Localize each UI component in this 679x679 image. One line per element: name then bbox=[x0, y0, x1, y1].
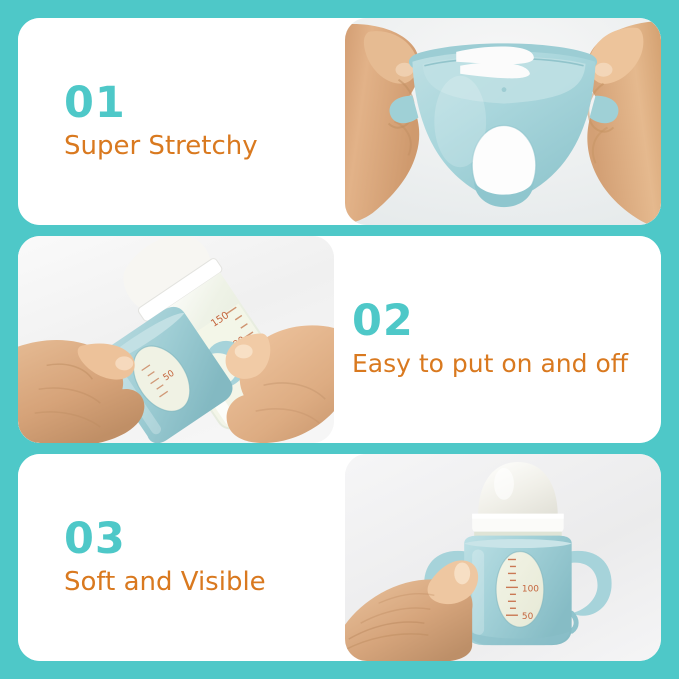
two-hands-stretching-silicone-sleeve-photo bbox=[345, 18, 661, 225]
bottle-marking-50: 50 bbox=[522, 612, 534, 622]
left-hand-shape bbox=[18, 340, 144, 443]
feature-panel-board: 01 Super Stretchy bbox=[0, 0, 679, 679]
feature-text-01: 01 Super Stretchy bbox=[18, 18, 345, 225]
hands-sliding-sleeve-onto-bottle-photo: 150 100 50 bbox=[18, 236, 334, 443]
hand-holding-assembled-bottle-photo: 100 50 bbox=[345, 454, 661, 661]
feature-text-03: 03 Soft and Visible bbox=[18, 454, 345, 661]
feature-caption-01: Super Stretchy bbox=[64, 130, 331, 163]
feature-card-03: 03 Soft and Visible bbox=[18, 454, 661, 661]
feature-card-02: 02 Easy to put on and off bbox=[18, 236, 661, 443]
feature-text-02: 02 Easy to put on and off bbox=[334, 236, 661, 443]
feature-caption-03: Soft and Visible bbox=[64, 566, 331, 599]
bottle-marking-100: 100 bbox=[522, 584, 539, 594]
feature-number-01: 01 bbox=[64, 81, 331, 126]
feature-number-03: 03 bbox=[64, 517, 331, 562]
feature-number-02: 02 bbox=[352, 299, 637, 344]
feature-caption-02: Easy to put on and off bbox=[352, 348, 637, 379]
feature-card-01: 01 Super Stretchy bbox=[18, 18, 661, 225]
